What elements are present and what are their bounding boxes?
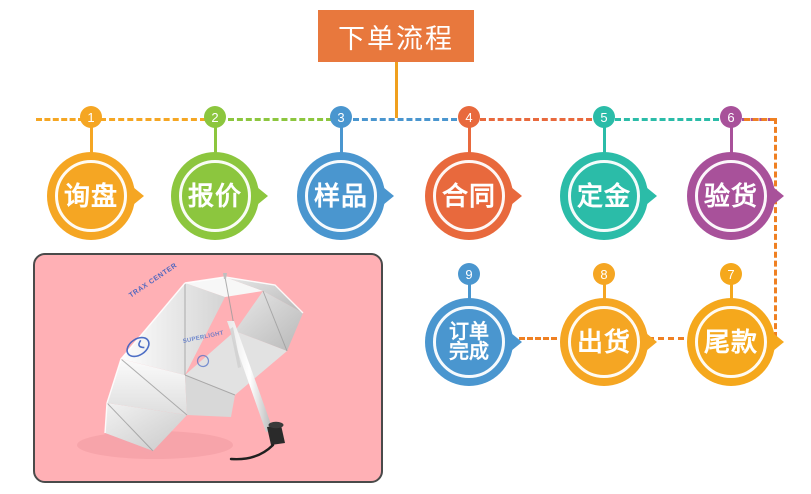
step-circle-8-shipping[interactable]: 出货	[560, 298, 648, 386]
umbrella-illustration	[35, 255, 381, 481]
title-connector-stem	[395, 62, 398, 118]
step-circle-6-inspection[interactable]: 验货	[687, 152, 775, 240]
step-9-label-line2: 完成	[449, 342, 489, 362]
step-badge-1: 1	[80, 106, 102, 128]
step-badge-2-number: 2	[211, 110, 218, 125]
product-image-panel: TRAX CENTER SUPERLIGHT	[33, 253, 383, 483]
page-title: 下单流程	[318, 10, 474, 62]
step-badge-3: 3	[330, 106, 352, 128]
step-2-label: 报价	[171, 152, 259, 240]
step-badge-3-number: 3	[337, 110, 344, 125]
step-badge-2: 2	[204, 106, 226, 128]
step-badge-4: 4	[458, 106, 480, 128]
step-badge-1-number: 1	[87, 110, 94, 125]
step-badge-9: 9	[458, 263, 480, 285]
step-circle-1-inquiry[interactable]: 询盘	[47, 152, 135, 240]
step-circle-3-sample[interactable]: 样品	[297, 152, 385, 240]
product-image: TRAX CENTER SUPERLIGHT	[35, 255, 381, 481]
page-title-text: 下单流程	[338, 17, 454, 56]
step-circle-4-contract[interactable]: 合同	[425, 152, 513, 240]
step-4-label: 合同	[425, 152, 513, 240]
rail-segment-teal-5to6	[615, 118, 719, 121]
step-6-label: 验货	[687, 152, 775, 240]
rail-segment-orange-1to2	[100, 118, 206, 121]
step-badge-4-number: 4	[465, 110, 472, 125]
step-5-label: 定金	[560, 152, 648, 240]
rail-segment-bottom-8to9	[519, 337, 557, 340]
step-1-label: 询盘	[47, 152, 135, 240]
step-badge-5: 5	[593, 106, 615, 128]
step-7-label: 尾款	[687, 298, 775, 386]
step-badge-6-number: 6	[727, 110, 734, 125]
step-circle-7-final-payment[interactable]: 尾款	[687, 298, 775, 386]
step-badge-8: 8	[593, 263, 615, 285]
step-circle-9-order-complete[interactable]: 订单 完成	[425, 298, 513, 386]
rail-segment-green-2to3	[228, 118, 332, 121]
step-9-label: 订单 完成	[425, 298, 513, 386]
step-badge-9-number: 9	[465, 267, 472, 282]
order-process-flowchart: 下单流程 1 2 3 4 5 6 询盘	[0, 0, 811, 494]
step-9-label-line1: 订单	[449, 322, 489, 342]
rail-segment-orangered-4to5	[480, 118, 592, 121]
rail-segment-orange-left	[36, 118, 84, 121]
step-8-label: 出货	[560, 298, 648, 386]
rail-segment-blue-3to4	[353, 118, 457, 121]
step-badge-7: 7	[720, 263, 742, 285]
rail-elbow-top-orange	[744, 118, 776, 121]
step-3-label: 样品	[297, 152, 385, 240]
step-circle-5-deposit[interactable]: 定金	[560, 152, 648, 240]
step-circle-2-quotation[interactable]: 报价	[171, 152, 259, 240]
step-badge-5-number: 5	[600, 110, 607, 125]
step-badge-8-number: 8	[600, 267, 607, 282]
step-badge-6: 6	[720, 106, 742, 128]
step-badge-7-number: 7	[727, 267, 734, 282]
